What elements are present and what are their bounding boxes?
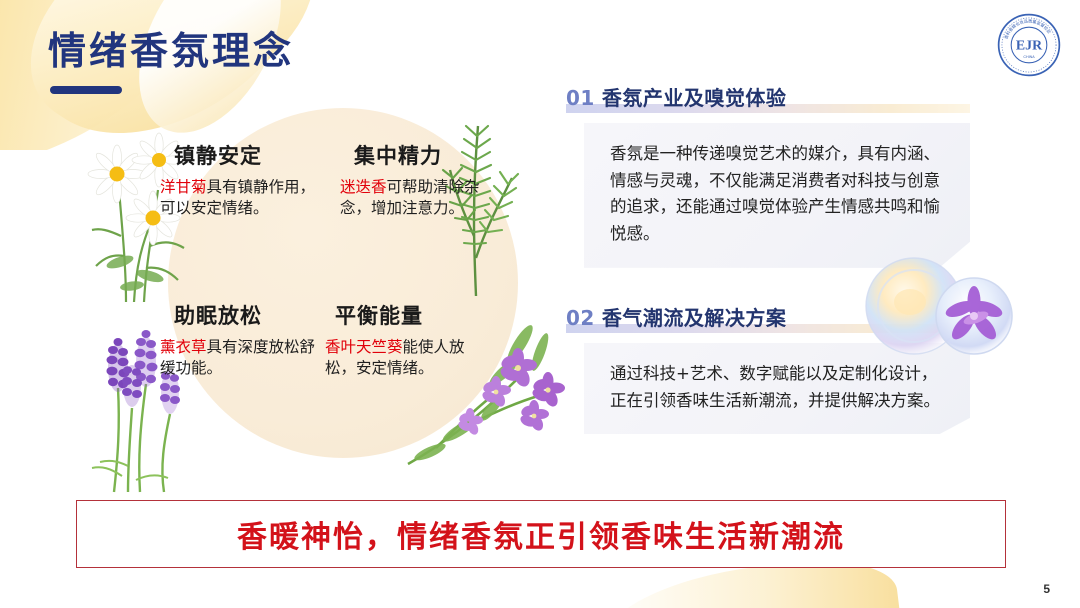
section-02: 02香气潮流及解决方案 通过科技+艺术、数字赋能以及定制化设计，正在引领香味生活… bbox=[566, 302, 1006, 434]
benefit-heading: 集中精力 bbox=[354, 140, 505, 170]
benefit-body: 迷迭香可帮助清除杂念，增加注意力。 bbox=[340, 177, 505, 220]
benefit-heading: 平衡能量 bbox=[335, 300, 490, 330]
benefit-highlight-term: 香叶天竺葵 bbox=[325, 338, 403, 356]
benefit-body: 薰衣草具有深度放松舒缓功能。 bbox=[160, 337, 325, 380]
benefit-block-calm: 镇静安定 洋甘菊具有镇静作用，可以安定情绪。 bbox=[160, 140, 325, 220]
section-number: 01 bbox=[566, 86, 595, 110]
page-title: 情绪香氛理念 bbox=[48, 20, 294, 75]
benefit-block-sleep: 助眠放松 薰衣草具有深度放松舒缓功能。 bbox=[160, 300, 325, 380]
svg-text:EJR: EJR bbox=[1016, 38, 1043, 53]
benefit-heading: 助眠放松 bbox=[174, 300, 325, 330]
section-title: 香氛产业及嗅觉体验 bbox=[602, 86, 787, 110]
benefits-grid: 镇静安定 洋甘菊具有镇静作用，可以安定情绪。 集中精力 迷迭香可帮助清除杂念，增… bbox=[150, 140, 550, 460]
page-number: 5 bbox=[1043, 582, 1050, 596]
slide-canvas: 情绪香氛理念 EJR CHINA · 香料香精化妆品质量监督检验 bbox=[0, 0, 1080, 608]
benefit-block-focus: 集中精力 迷迭香可帮助清除杂念，增加注意力。 bbox=[340, 140, 505, 220]
section-body-text: 香氛是一种传递嗅觉艺术的媒介，具有内涵、情感与灵魂，不仅能满足消费者对科技与创意… bbox=[584, 123, 970, 268]
banner-text: 香暖神怡，情绪香氛正引领香味生活新潮流 bbox=[237, 512, 845, 556]
section-01: 01香氛产业及嗅觉体验 香氛是一种传递嗅觉艺术的媒介，具有内涵、情感与灵魂，不仅… bbox=[566, 82, 1006, 268]
section-title: 香气潮流及解决方案 bbox=[602, 306, 787, 330]
benefit-highlight-term: 迷迭香 bbox=[340, 178, 387, 196]
conclusion-banner: 香暖神怡，情绪香氛正引领香味生活新潮流 bbox=[76, 500, 1006, 568]
benefit-body: 香叶天竺葵能使人放松，安定情绪。 bbox=[325, 337, 490, 380]
benefit-highlight-term: 薰衣草 bbox=[160, 338, 207, 356]
section-body-text: 通过科技+艺术、数字赋能以及定制化设计，正在引领香味生活新潮流，并提供解决方案。 bbox=[584, 343, 970, 434]
right-content-column: 01香氛产业及嗅觉体验 香氛是一种传递嗅觉艺术的媒介，具有内涵、情感与灵魂，不仅… bbox=[566, 82, 1006, 434]
svg-text:CHINA: CHINA bbox=[1023, 55, 1035, 59]
benefit-heading: 镇静安定 bbox=[174, 140, 325, 170]
benefit-block-balance: 平衡能量 香叶天竺葵能使人放松，安定情绪。 bbox=[325, 300, 490, 380]
section-number: 02 bbox=[566, 306, 595, 330]
title-underline-rule bbox=[50, 86, 122, 94]
benefit-highlight-term: 洋甘菊 bbox=[160, 178, 207, 196]
corporate-seal-logo: EJR CHINA · 香料香精化妆品质量监督检验 bbox=[996, 12, 1062, 78]
benefit-body: 洋甘菊具有镇静作用，可以安定情绪。 bbox=[160, 177, 325, 220]
